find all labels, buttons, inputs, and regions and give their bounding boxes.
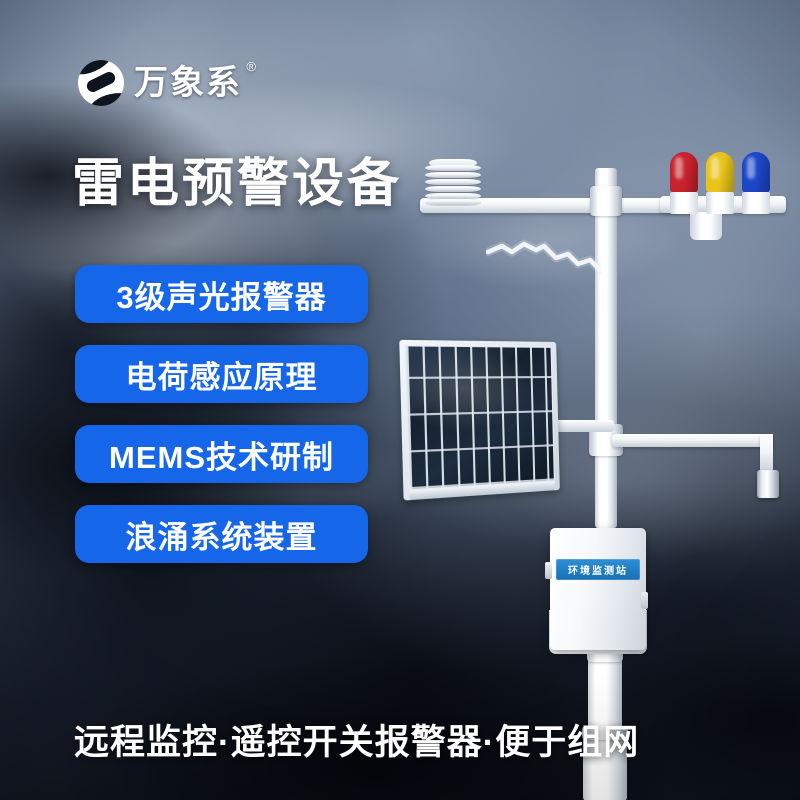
feature-pill-list: 3级声光报警器 电荷感应原理 MEMS技术研制 浪涌系统装置 bbox=[75, 265, 368, 563]
feature-pill-1[interactable]: 3级声光报警器 bbox=[75, 265, 368, 323]
brand-name-text: 万象系 bbox=[134, 64, 242, 102]
feature-pill-4[interactable]: 浪涌系统装置 bbox=[75, 505, 368, 563]
brand-name: 万象系 ® bbox=[134, 66, 242, 100]
brand-sphere-swoosh-icon bbox=[78, 60, 124, 106]
page-title: 雷电预警设备 bbox=[72, 158, 402, 210]
feature-pill-3[interactable]: MEMS技术研制 bbox=[75, 425, 368, 483]
promo-banner: 环境监测站 万象系 ® 雷电预警设备 3级声光报警器 电荷感应原理 MEMS技术… bbox=[0, 0, 800, 800]
trademark-symbol: ® bbox=[246, 60, 258, 73]
footer-tagline: 远程监控·遥控开关报警器·便于组网 bbox=[74, 714, 639, 765]
brand-logo: 万象系 ® bbox=[78, 60, 242, 106]
feature-pill-2[interactable]: 电荷感应原理 bbox=[75, 345, 368, 403]
